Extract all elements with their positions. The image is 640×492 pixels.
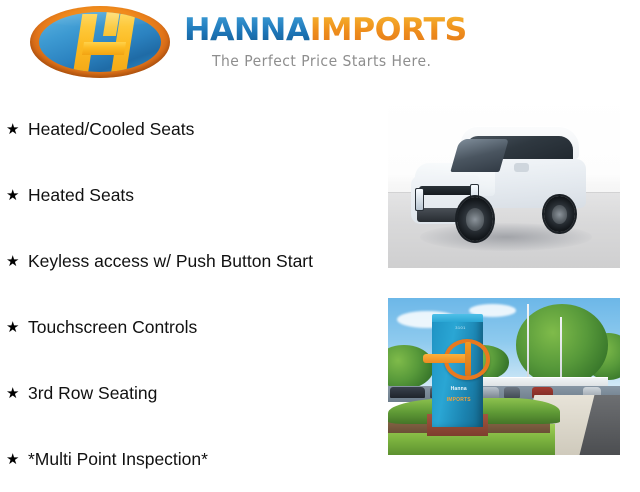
list-item: ★ Heated Seats [0,162,380,228]
hanna-imports-emblem-icon [30,6,170,78]
car-windshield [450,139,509,172]
brand-name-secondary: IMPORTS [310,12,467,48]
parked-car [481,387,500,398]
star-bullet-icon: ★ [6,122,28,137]
car-side-mirror [514,163,529,172]
vehicle-photo[interactable] [388,95,620,268]
list-item: ★ Keyless access w/ Push Button Start [0,228,380,294]
sign-h-emblem-icon [444,339,490,380]
feature-label: Touchscreen Controls [28,317,197,338]
sign-brand-line2: IMPORTS [439,397,478,403]
feature-label: Heated/Cooled Seats [28,119,194,140]
car-rear-wheel [544,196,574,233]
star-bullet-icon: ★ [6,320,28,335]
sign-emblem-h-stem [465,342,471,375]
feature-label: 3rd Row Seating [28,383,157,404]
feature-label: Heated Seats [28,185,134,206]
parked-car [390,387,425,398]
car-grille [419,186,476,195]
star-bullet-icon: ★ [6,188,28,203]
emblem-h-crossbar [82,42,126,55]
star-bullet-icon: ★ [6,254,28,269]
logo-text-block: HANNAIMPORTS The Perfect Price Starts He… [184,6,461,70]
site-header: HANNAIMPORTS The Perfect Price Starts He… [0,0,640,92]
tree [516,304,609,386]
list-item: ★ Touchscreen Controls [0,294,380,360]
brand-wordmark: HANNAIMPORTS [184,15,467,46]
hanna-imports-logo[interactable]: HANNAIMPORTS The Perfect Price Starts He… [30,6,461,78]
list-item: ★ Heated/Cooled Seats [0,96,380,162]
feature-label: Keyless access w/ Push Button Start [28,251,313,272]
sign-cap [432,314,483,322]
list-item: ★ *Multi Point Inspection* [0,426,380,492]
feature-label: *Multi Point Inspection* [28,449,208,470]
star-bullet-icon: ★ [6,452,28,467]
list-item: ★ 3rd Row Seating [0,360,380,426]
car-front-wheel [457,197,493,241]
brand-tagline: The Perfect Price Starts Here. [212,52,444,70]
kia-ev9-suv [411,126,601,237]
brand-name-primary: HANNA [184,12,310,48]
parked-car [504,387,520,398]
car-headlight-left [415,188,424,211]
vehicle-feature-list: ★ Heated/Cooled Seats ★ Heated Seats ★ K… [0,96,380,492]
emblem-face [39,12,161,72]
sign-emblem-bar [423,354,468,363]
sign-street-number: 3101 [455,325,466,330]
sign-brand-line1: Hanna [439,386,478,392]
star-bullet-icon: ★ [6,386,28,401]
dealership-photo[interactable]: 3101 Hanna IMPORTS [388,298,620,455]
